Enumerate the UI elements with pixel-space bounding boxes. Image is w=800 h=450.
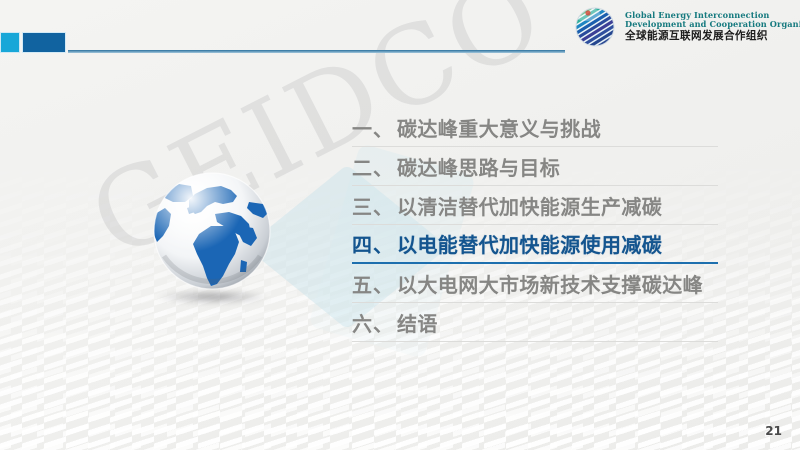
agenda-item-6[interactable]: 六、 结语 <box>352 303 718 342</box>
agenda-item-6-number: 六、 <box>352 308 394 337</box>
agenda-item-5-label: 以大电网大市场新技术支撑碳达峰 <box>397 269 703 298</box>
agenda-item-6-label: 结语 <box>397 308 438 337</box>
agenda-item-3-label: 以清洁替代加快能源生产减碳 <box>397 191 662 220</box>
agenda-item-3[interactable]: 三、 以清洁替代加快能源生产减碳 <box>352 186 718 225</box>
page-number: 21 <box>765 424 782 438</box>
agenda-item-2[interactable]: 二、 碳达峰思路与目标 <box>352 147 718 186</box>
slide-canvas: GEIDCO <box>0 0 800 450</box>
agenda-item-4-label: 以电能替代加快能源使用减碳 <box>397 229 662 258</box>
globe-drop-shadow <box>157 289 269 305</box>
agenda-item-1-label: 碳达峰重大意义与挑战 <box>397 113 601 142</box>
agenda-item-2-number: 二、 <box>352 152 394 181</box>
agenda-item-3-number: 三、 <box>352 191 394 220</box>
organization-logo: Global Energy Interconnection Developmen… <box>572 4 800 50</box>
agenda-item-1-number: 一、 <box>352 113 394 142</box>
globe-svg <box>145 168 285 298</box>
organization-logo-text: Global Energy Interconnection Developmen… <box>625 11 800 43</box>
logo-line-cn: 全球能源互联网发展合作组织 <box>625 31 800 43</box>
header-rule <box>68 50 565 53</box>
earth-globe-graphic <box>145 168 285 328</box>
agenda-item-5-number: 五、 <box>352 269 394 298</box>
agenda-list: 一、 碳达峰重大意义与挑战 二、 碳达峰思路与目标 三、 以清洁替代加快能源生产… <box>352 108 718 342</box>
agenda-item-5[interactable]: 五、 以大电网大市场新技术支撑碳达峰 <box>352 264 718 303</box>
header-accent-bar-cyan <box>0 32 20 53</box>
agenda-item-4-number: 四、 <box>352 229 394 258</box>
header-accent-bar-blue <box>22 32 66 53</box>
agenda-item-4-active[interactable]: 四、 以电能替代加快能源使用减碳 <box>352 225 718 264</box>
agenda-item-2-label: 碳达峰思路与目标 <box>397 152 560 181</box>
logo-line-en-2: Development and Cooperation Organization <box>625 20 800 29</box>
agenda-item-1[interactable]: 一、 碳达峰重大意义与挑战 <box>352 108 718 147</box>
geidco-globe-emblem-icon <box>572 4 618 50</box>
